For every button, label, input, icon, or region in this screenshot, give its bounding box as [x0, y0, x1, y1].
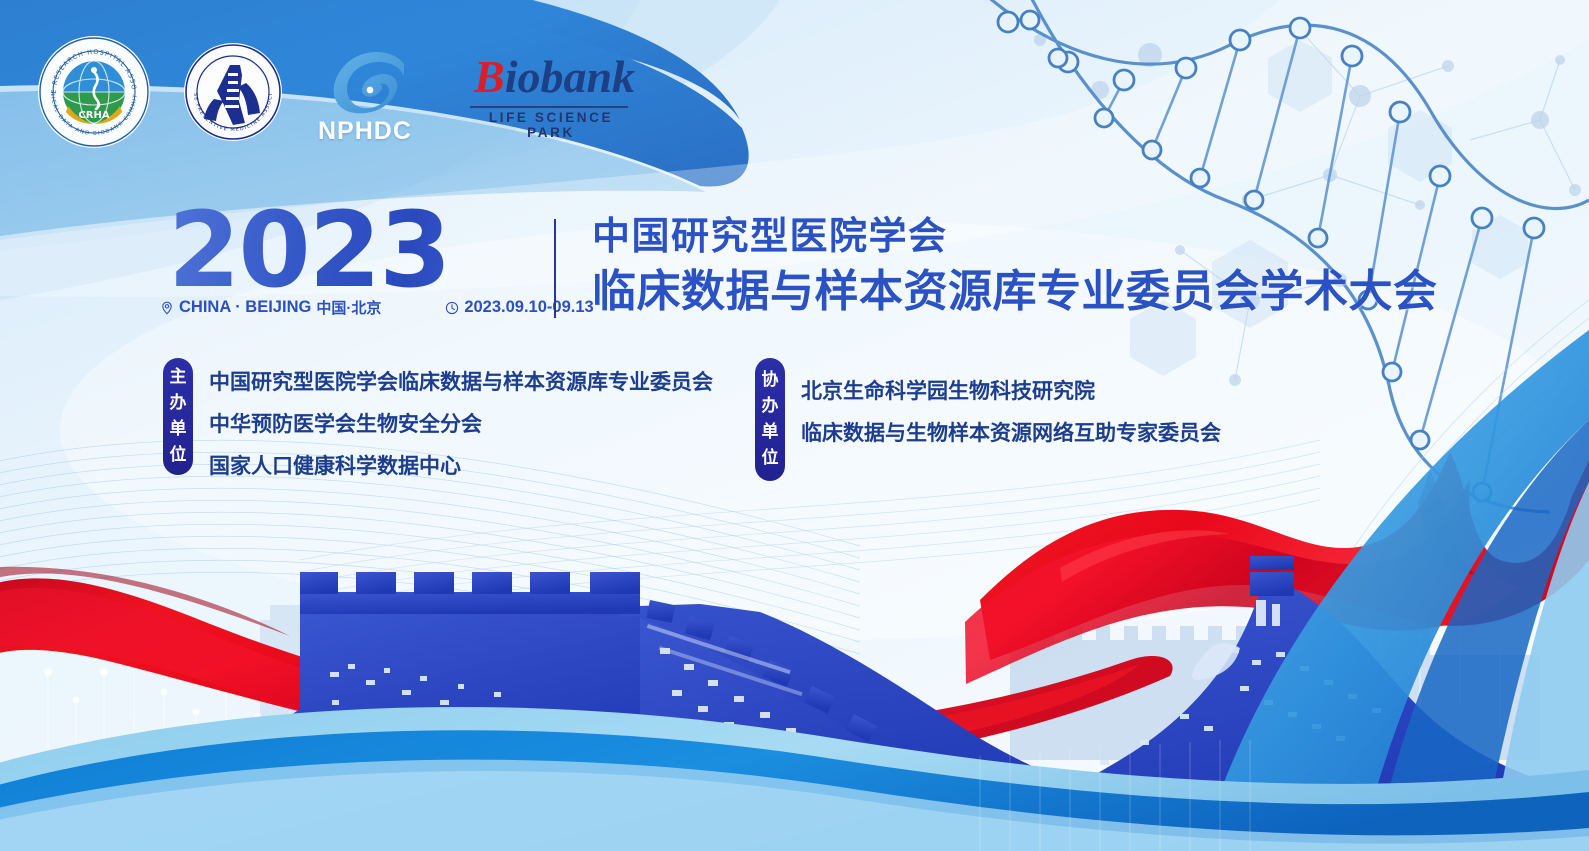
coorg-badge-char-3: 位: [755, 445, 785, 471]
biobank-rule: [470, 106, 628, 108]
event-dates: 2023.09.10-09.13: [464, 298, 593, 317]
conference-title: 临床数据与样本资源库专业委员会学术大会: [592, 263, 1438, 321]
coorganizer-badge: 协 办 单 位: [755, 358, 785, 481]
logo-row: CRHA CHINESE RESEARCH HOSPITAL ASSOCIATI…: [34, 34, 636, 150]
location-en: CHINA · BEIJING: [179, 298, 311, 317]
host-list: 中国研究型医院学会临床数据与样本资源库专业委员会 中华预防医学会生物安全分会 国…: [209, 358, 713, 487]
host-organizer-group: 主 办 单 位 中国研究型医院学会临床数据与样本资源库专业委员会 中华预防医学会…: [163, 358, 713, 487]
clock-icon: [445, 301, 459, 315]
coorg-badge-char-1: 办: [755, 393, 785, 419]
biobank-subtitle: LIFE SCIENCE PARK: [472, 110, 630, 140]
host-badge-char-1: 办: [163, 390, 193, 416]
coorganizer-group: 协 办 单 位 北京生命科学园生物科技研究院 临床数据与生物样本资源网络互助专家…: [755, 358, 1221, 481]
biobank-b-letter: B: [474, 51, 505, 102]
coorganizer-item: 北京生命科学园生物科技研究院: [801, 370, 1221, 412]
location-item: CHINA · BEIJING 中国·北京: [160, 297, 381, 318]
year-number: 2023: [168, 200, 508, 300]
conference-org-name: 中国研究型医院学会: [592, 211, 1438, 261]
event-meta-row: CHINA · BEIJING 中国·北京 2023.09.10-09.13: [160, 297, 594, 318]
location-pin-icon: [160, 301, 174, 315]
biobank-rest: iobank: [505, 51, 635, 102]
svg-text:CRHA: CRHA: [78, 110, 109, 121]
coorganizer-list: 北京生命科学园生物科技研究院 临床数据与生物样本资源网络互助专家委员会: [801, 358, 1221, 454]
title-divider: [554, 219, 556, 318]
biobank-wordmark: Biobank: [474, 54, 635, 100]
logo-nphdc: NPHDC: [320, 40, 432, 144]
host-item: 中华预防医学会生物安全分会: [209, 403, 713, 445]
nphdc-label: NPHDC: [318, 117, 412, 146]
logo-crha: CRHA CHINESE RESEARCH HOSPITAL ASSOCIATI…: [38, 36, 150, 148]
conference-banner: CRHA CHINESE RESEARCH HOSPITAL ASSOCIATI…: [0, 0, 1589, 851]
year-block: 2023: [168, 200, 508, 300]
host-badge: 主 办 单 位: [163, 358, 193, 475]
date-item: 2023.09.10-09.13: [445, 298, 593, 317]
logo-biobank: Biobank LIFE SCIENCE PARK: [466, 50, 636, 134]
host-badge-char-0: 主: [163, 364, 193, 390]
coorganizer-item: 临床数据与生物样本资源网络互助专家委员会: [801, 412, 1221, 454]
location-cn: 中国·北京: [316, 297, 381, 318]
coorg-badge-char-2: 单: [755, 419, 785, 445]
host-item: 中国研究型医院学会临床数据与样本资源库专业委员会: [209, 361, 713, 403]
host-item: 国家人口健康科学数据中心: [209, 445, 713, 487]
coorg-badge-char-0: 协: [755, 367, 785, 393]
host-badge-char-3: 位: [163, 442, 193, 468]
logo-cpma: CHINESE PREVENTIVE MEDICINE ASSOCIATION: [184, 43, 282, 141]
title-block: 中国研究型医院学会 临床数据与样本资源库专业委员会学术大会: [592, 211, 1438, 321]
host-badge-char-2: 单: [163, 416, 193, 442]
